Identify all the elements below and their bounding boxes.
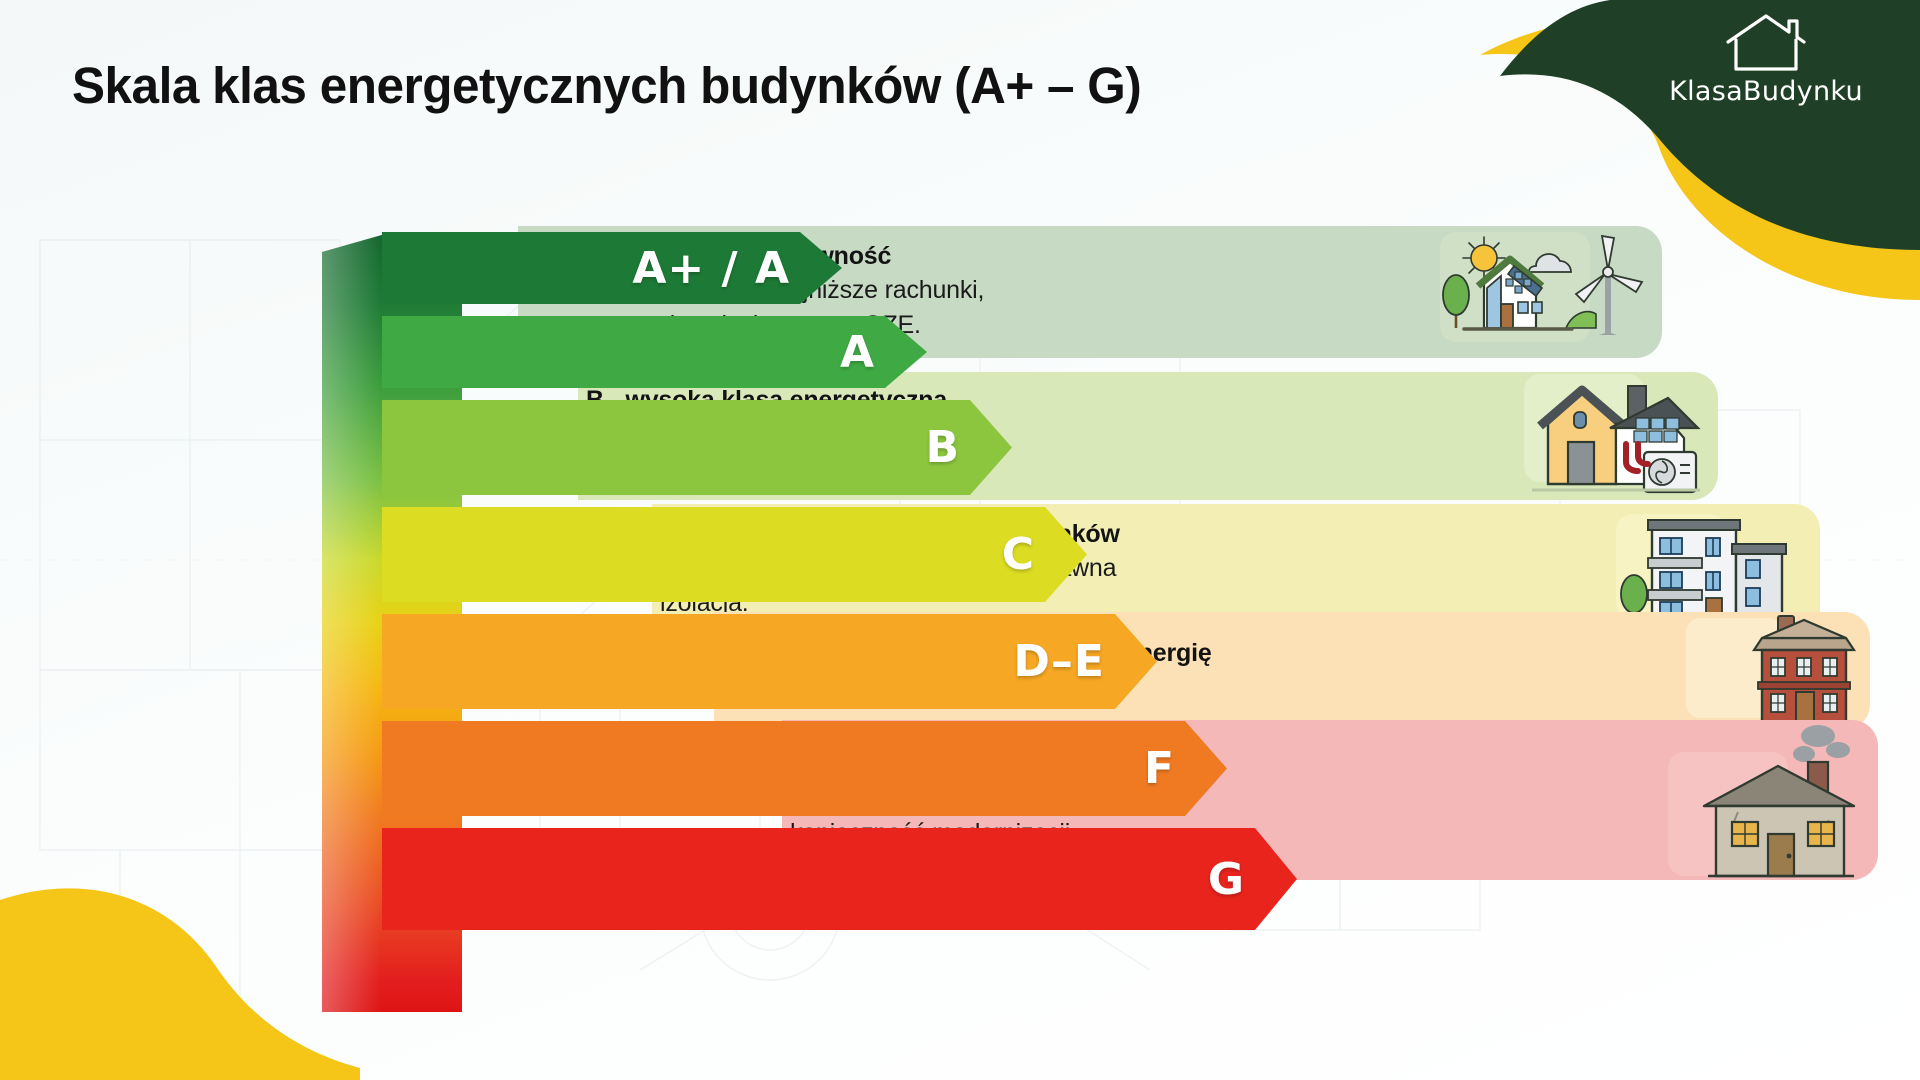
old-house-smoke-icon [1668,724,1878,884]
scale-row-b: B [382,400,1012,495]
energy-class-scale: A+ / A - najwyższa efektywność Niskie zu… [322,232,1802,1012]
page-title: Skala klas energetycznych budynków (A+ –… [72,56,1141,115]
grade-bar[interactable]: G [382,828,1297,930]
grade-label: F [1144,743,1175,794]
scale-row-c: C [382,507,1087,602]
grade-bar[interactable]: A+ / A [382,232,842,304]
grade-label: B [925,422,960,473]
scale-row-f: F [382,721,1227,816]
grade-label: D–E [1013,636,1105,687]
grade-label: G [1208,854,1245,905]
brick-townhouse-icon [1686,612,1856,728]
grade-bar[interactable]: A [382,316,927,388]
brand-logo[interactable]: KlasaBudynku [1656,12,1876,107]
grade-bar[interactable]: C [382,507,1087,602]
grade-bar[interactable]: F [382,721,1227,816]
grade-label: A [840,327,875,378]
grade-label: C [1002,529,1035,580]
gradient-sheen [322,232,381,1012]
scale-row-a: A [382,316,927,388]
scale-row-a-plus: A+ / A [382,232,842,304]
grade-label: A+ / A [632,243,790,294]
scale-row-g: G [382,828,1297,930]
grade-bar[interactable]: D–E [382,614,1157,709]
house-heat-pump-icon [1524,372,1704,498]
eco-house-solar-wind-icon [1440,232,1648,356]
house-outline-icon [1723,12,1809,74]
grade-bar[interactable]: B [382,400,1012,495]
brand-name: KlasaBudynku [1669,76,1863,107]
scale-row-d-e: D–E [382,614,1157,709]
